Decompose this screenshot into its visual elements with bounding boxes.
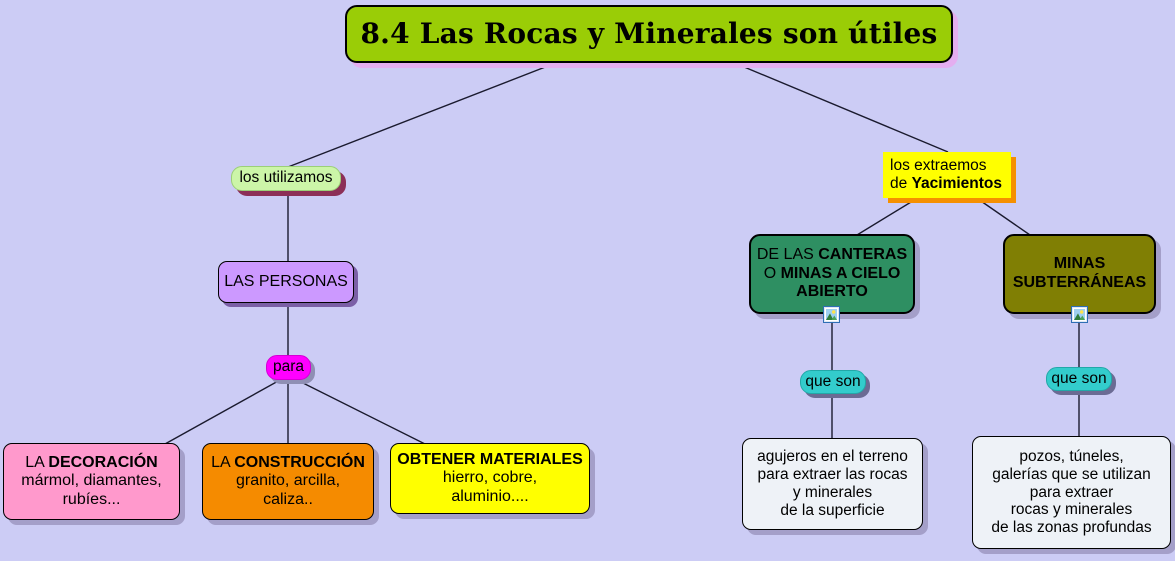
- node-line-1: pozos, túneles,: [1019, 448, 1123, 466]
- node-line-2-prefix: O: [764, 265, 781, 282]
- node-line-3: para extraer: [1030, 484, 1114, 502]
- node-line-2: SUBTERRÁNEAS: [1013, 274, 1146, 293]
- node-line-1-prefix: LA: [25, 454, 48, 471]
- node-line-1-bold: CANTERAS: [818, 246, 907, 263]
- map-title-node[interactable]: 8.4 Las Rocas y Minerales son útiles: [345, 5, 953, 63]
- picture-icon[interactable]: [1071, 306, 1088, 323]
- linking-phrase-line-2-prefix: de: [890, 175, 912, 192]
- linking-phrase-label: que son: [1051, 370, 1106, 388]
- node-line-3-bold: ABIERTO: [796, 283, 868, 302]
- node-minas-subterraneas[interactable]: MINAS SUBTERRÁNEAS: [1003, 234, 1156, 314]
- linking-phrase-label: los utilizamos: [239, 169, 332, 187]
- node-line-1: LA CONSTRUCCIÓN: [211, 454, 365, 473]
- node-line-4: rocas y minerales: [1011, 501, 1132, 519]
- node-canteras-minas-cielo-abierto[interactable]: DE LAS CANTERAS O MINAS A CIELO ABIERTO: [749, 234, 915, 314]
- node-pozos-tuneles-galerias[interactable]: pozos, túneles, galerías que se utilizan…: [972, 436, 1171, 549]
- picture-icon[interactable]: [823, 306, 840, 323]
- node-line-1: agujeros en el terreno: [757, 448, 908, 466]
- node-line-1-bold: DECORACIÓN: [48, 454, 157, 471]
- node-line-1: LA DECORACIÓN: [25, 454, 157, 473]
- link-title-utilizamos: [288, 64, 553, 167]
- link-yacimientos-minas: [978, 199, 1030, 235]
- picture-icon-glyph: [1073, 308, 1086, 321]
- linking-phrase-que-son-minas[interactable]: que son: [1046, 367, 1112, 391]
- linking-phrase-line-2-bold: Yacimientos: [912, 175, 1002, 192]
- picture-icon-glyph: [825, 308, 838, 321]
- linking-phrase-label: que son: [805, 373, 860, 391]
- link-para-decoracion: [165, 380, 280, 444]
- node-line-2: mármol, diamantes,: [21, 472, 162, 491]
- link-para-materiales: [297, 380, 425, 444]
- node-line-2: galerías que se utilizan: [992, 466, 1151, 484]
- linking-phrase-para[interactable]: para: [266, 355, 311, 380]
- node-line-3: caliza..: [263, 491, 313, 510]
- node-obtener-materiales[interactable]: OBTENER MATERIALES hierro, cobre, alumin…: [390, 443, 590, 514]
- linking-phrase-los-extraemos-yacimientos[interactable]: los extraemos de Yacimientos: [883, 152, 1011, 198]
- concept-map-canvas: 8.4 Las Rocas y Minerales son útiles los…: [0, 0, 1175, 561]
- linking-phrase-los-utilizamos[interactable]: los utilizamos: [231, 166, 341, 191]
- node-line-1-prefix: DE LAS: [757, 246, 818, 263]
- node-las-personas[interactable]: LAS PERSONAS: [218, 261, 354, 303]
- link-yacimientos-canteras: [857, 199, 916, 235]
- node-line-1: MINAS: [1054, 255, 1106, 274]
- node-line-3: y minerales: [793, 484, 872, 502]
- node-line-1-bold: OBTENER MATERIALES: [397, 451, 582, 470]
- linking-phrase-label: para: [273, 358, 304, 376]
- node-line-1: DE LAS CANTERAS: [757, 246, 907, 265]
- linking-phrase-que-son-canteras[interactable]: que son: [800, 370, 866, 394]
- node-line-2: O MINAS A CIELO: [764, 265, 901, 284]
- node-line-2: hierro, cobre,: [443, 469, 537, 488]
- node-line-2: granito, arcilla,: [236, 472, 340, 491]
- node-line-3: rubíes...: [63, 491, 121, 510]
- linking-phrase-line-2: de Yacimientos: [890, 175, 1002, 193]
- node-line-5: de las zonas profundas: [991, 519, 1151, 537]
- node-la-decoracion[interactable]: LA DECORACIÓN mármol, diamantes, rubíes.…: [3, 443, 180, 520]
- node-line-1-bold: CONSTRUCCIÓN: [234, 454, 365, 471]
- node-line-2: para extraer las rocas: [758, 466, 908, 484]
- link-title-yacimientos: [737, 64, 948, 152]
- node-line-4: de la superficie: [780, 502, 884, 520]
- node-line-2-bold: MINAS A CIELO: [781, 265, 901, 282]
- node-la-construccion[interactable]: LA CONSTRUCCIÓN granito, arcilla, caliza…: [202, 443, 374, 520]
- node-agujeros-en-el-terreno[interactable]: agujeros en el terreno para extraer las …: [742, 438, 923, 530]
- node-line-3: aluminio....: [451, 488, 528, 507]
- map-title-text: 8.4 Las Rocas y Minerales son útiles: [360, 18, 937, 50]
- node-line-1-prefix: LA: [211, 454, 234, 471]
- linking-phrase-line-1: los extraemos: [890, 157, 986, 175]
- node-label: LAS PERSONAS: [224, 273, 348, 292]
